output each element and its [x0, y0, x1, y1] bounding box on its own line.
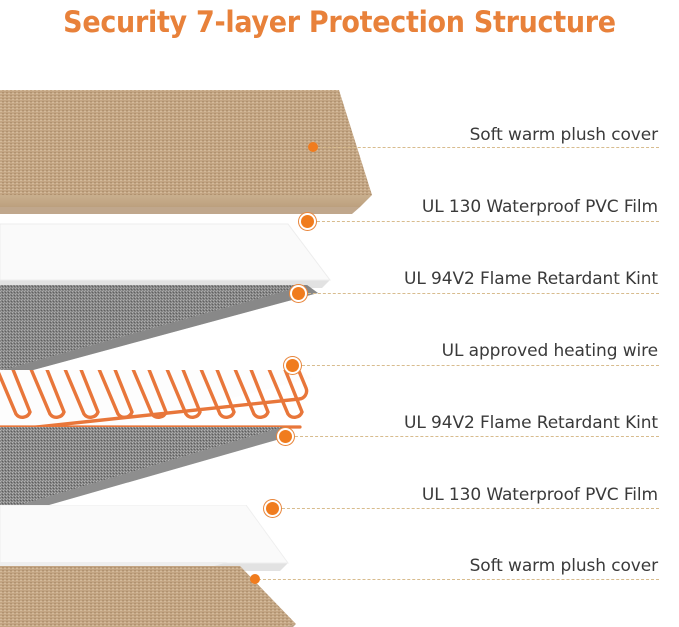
- leader-line-6: [272, 508, 659, 509]
- leader-dot-icon-4: [286, 359, 299, 372]
- leader-line-5: [285, 436, 659, 437]
- leader-line-3: [298, 293, 659, 294]
- leader-line-7: [258, 579, 659, 580]
- leader-line-2: [307, 221, 659, 222]
- infographic-canvas: Security 7-layer Protection Structure: [0, 0, 679, 627]
- leader-dot-icon-5: [279, 430, 292, 443]
- layer-label-1: Soft warm plush cover: [470, 125, 658, 145]
- layer-label-7: Soft warm plush cover: [470, 556, 658, 576]
- leader-dot-icon-7: [250, 574, 260, 584]
- layer-label-3: UL 94V2 Flame Retardant Kint: [404, 269, 658, 289]
- layer-label-5: UL 94V2 Flame Retardant Kint: [404, 413, 658, 433]
- page-title: Security 7-layer Protection Structure: [24, 0, 655, 44]
- leader-line-4: [292, 365, 659, 366]
- layer-stack-illustration: [0, 90, 400, 627]
- layer-label-6: UL 130 Waterproof PVC Film: [422, 485, 658, 505]
- leader-dot-icon-2: [301, 215, 314, 228]
- leader-dot-icon-3: [292, 287, 305, 300]
- leader-dot-icon-6: [266, 502, 279, 515]
- layer-label-4: UL approved heating wire: [442, 341, 658, 361]
- layer-7-plush-cover: [0, 562, 400, 627]
- layer-label-2: UL 130 Waterproof PVC Film: [422, 197, 658, 217]
- leader-line-1: [313, 147, 659, 148]
- layer-1-plush-cover: [0, 90, 400, 220]
- leader-dot-icon-1: [308, 142, 318, 152]
